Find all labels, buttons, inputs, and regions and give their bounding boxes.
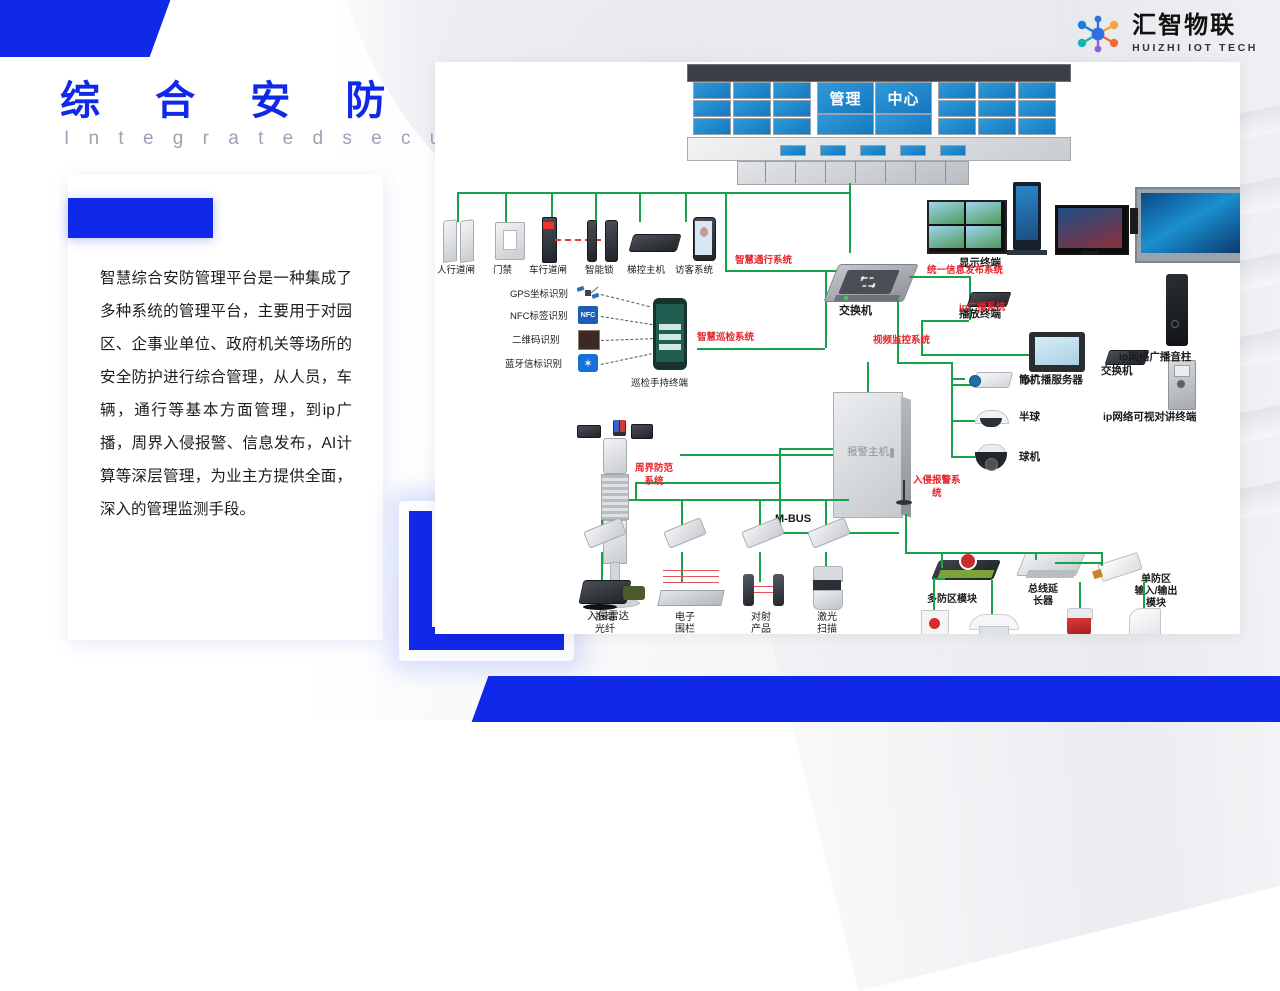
wire-cctv-down: [897, 300, 899, 362]
wire-glass: [1143, 582, 1145, 608]
footer-blue-parallelogram: [472, 676, 1280, 722]
wire-mbus-drop: [825, 499, 827, 525]
label-access-1: 门禁: [493, 265, 512, 276]
label-ip-speaker: ip网络广播音柱: [1119, 352, 1191, 363]
label-camera-dome: 半球: [1019, 412, 1040, 423]
label-system-info: 统一信息发布系统: [927, 265, 1003, 276]
label-ip-audio-switch: 交换机: [1101, 366, 1133, 377]
label-perimeter-beam: 对射产品: [739, 612, 783, 634]
wire-patrol: [697, 348, 825, 350]
label-patrol-1: NFC标签识别: [510, 311, 568, 322]
wire-drop: [639, 192, 641, 222]
wire-ipaudio: [921, 354, 1039, 356]
wire-host-top: [867, 362, 869, 392]
label-system-access: 智慧通行系统: [735, 255, 792, 266]
wire-drop: [685, 192, 687, 222]
wire-cam-bus: [951, 378, 953, 456]
label-switch: 交换机: [839, 306, 872, 317]
brand-name-en: HUIZHI IOT TECH: [1132, 42, 1258, 54]
wire-cctv-v: [951, 362, 953, 378]
wire-alarm-btn-h: [933, 578, 945, 580]
video-wall-text-left: 管理: [829, 88, 861, 109]
wire-alarm-btn: [933, 578, 935, 610]
topology-canvas: 管理 中心: [435, 62, 1240, 634]
wire-host-bottom: [905, 514, 907, 552]
wire-cctv-h: [897, 362, 951, 364]
label-system-patrol: 智慧巡检系统: [697, 332, 754, 343]
wire-info-branch: [921, 320, 969, 322]
wire-switch-right: [909, 276, 969, 278]
wire-host-left: [779, 448, 833, 450]
label-access-2: 车行道闸: [529, 265, 567, 276]
label-access-5: 访客系统: [675, 265, 713, 276]
wire-mbus-trunk: [601, 499, 849, 501]
label-system-intrusion: 入侵报警系统: [913, 474, 961, 500]
intro-card-tag: [68, 198, 213, 238]
wire-cam-3: [951, 456, 975, 458]
wire-siren: [1079, 582, 1081, 608]
video-wall-text-right: 中心: [887, 88, 919, 109]
wire-mbus-dev: [759, 552, 761, 582]
wire-cam-2: [951, 420, 975, 422]
label-patrol-0: GPS坐标识别: [510, 289, 568, 300]
label-ip-intercom: ip网络可视对讲终端: [1103, 412, 1196, 423]
wire-trunk-center: [849, 183, 851, 253]
brand-text: 汇智物联 HUIZHI IOT TECH: [1132, 14, 1258, 54]
label-access-3: 智能锁: [585, 265, 614, 276]
label-camera-ptz: 球机: [1019, 452, 1040, 463]
header-blue-parallelogram: [0, 0, 170, 57]
label-patrol-3: 蓝牙信标识别: [505, 359, 562, 370]
wire-alarm-drop: [941, 552, 943, 568]
wire-drop: [505, 192, 507, 222]
label-system-ipaudio: ip广播系统: [959, 302, 1005, 313]
label-perimeter-laser: 激光扫描: [805, 612, 849, 634]
label-system-cctv: 视频监控系统: [873, 335, 930, 346]
label-perimeter-fiber: 振动光纤: [583, 612, 627, 634]
label-patrol-terminal: 巡检手持终端: [631, 378, 688, 389]
wire-patrol-up: [825, 270, 827, 348]
wire-io-v: [1101, 552, 1103, 566]
wire-access-to-switch: [725, 192, 727, 270]
label-alarm-host: 报警主机: [847, 447, 889, 458]
wire-host-mid: [680, 454, 833, 456]
wire-alarm-bus: [941, 552, 1101, 554]
wire-alarm-drop: [1035, 552, 1037, 560]
wire-mbus-drop: [759, 499, 761, 525]
label-bus-extender: 总线延长器: [1015, 584, 1071, 608]
wire-top-bus: [457, 192, 849, 194]
wire-mbus-dev: [681, 552, 683, 582]
molecule-network-icon: [1073, 14, 1123, 54]
wire-drop: [595, 192, 597, 222]
wire-io-h: [1055, 562, 1101, 564]
brand-name-cn: 汇智物联: [1132, 14, 1258, 38]
label-single-zone-io: 单防区输入/输出模块: [1123, 574, 1189, 610]
page-title: 综 合 安 防: [60, 68, 407, 126]
intro-paragraph: 智慧综合安防管理平台是一种集成了多种系统的管理平台，主要用于对园区、企事业单位、…: [100, 262, 352, 526]
label-access-4: 梯控主机: [627, 265, 665, 276]
topology-diagram-panel[interactable]: 管理 中心: [435, 62, 1240, 634]
wire-smoke: [991, 580, 993, 614]
label-system-perimeter: 周界防范系统: [635, 462, 673, 488]
label-patrol-2: 二维码识别: [512, 335, 560, 346]
wire-drop: [457, 192, 459, 222]
label-access-0: 人行道闸: [437, 265, 475, 276]
wire-mbus-drop: [681, 499, 683, 525]
wire-cam-bus-h: [951, 378, 965, 380]
brand-logo: 汇智物联 HUIZHI IOT TECH: [1073, 14, 1258, 54]
label-perimeter-fence: 电子围栏: [663, 612, 707, 634]
label-camera-bullet: 筒机: [1019, 375, 1040, 386]
